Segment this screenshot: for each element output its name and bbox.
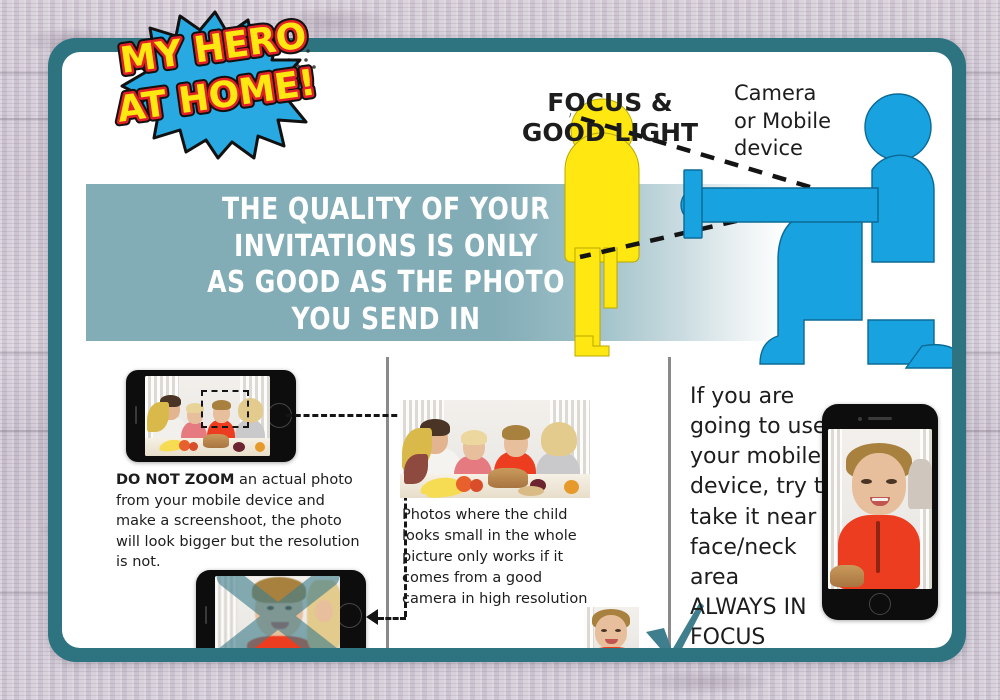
advice-line-2: going to use — [690, 412, 840, 442]
photographer-lower-leg — [868, 320, 934, 364]
whole-picture-caption: Photos where the child looks small in th… — [402, 505, 592, 610]
reject-x-icon — [215, 576, 340, 648]
phone-camera-icon — [858, 417, 862, 421]
camera-device-label: Camera or Mobile device — [734, 80, 884, 163]
mobile-advice-caption: If you are going to use your mobile devi… — [690, 382, 840, 648]
advice-line-8: ALWAYS IN — [690, 593, 840, 623]
do-not-zoom-emphasis: DO NOT ZOOM — [116, 472, 234, 488]
phone-speaker-icon — [135, 406, 137, 424]
headline-line-2: INVITATIONS IS ONLY — [116, 229, 655, 266]
phone-landscape-family — [126, 370, 296, 462]
family-photo-large — [400, 400, 590, 498]
phone-screen-family-photo — [145, 376, 270, 456]
photographer-torso — [872, 155, 934, 262]
advice-line-4: device, try to — [690, 472, 840, 502]
headline-line-3: AS GOOD AS THE PHOTO — [116, 265, 655, 302]
focus-label-line-2: GOOD LIGHT — [500, 118, 720, 148]
phone-screen-closeup-photo — [828, 429, 932, 589]
phone-home-button-icon — [869, 593, 891, 615]
phone-speaker-icon — [868, 417, 892, 420]
phone-portrait-closeup — [822, 404, 938, 620]
do-not-zoom-caption: DO NOT ZOOM an actual photo from your mo… — [116, 470, 364, 573]
my-hero-at-home-logo: MY HERO MY HERO MY HERO AT HOME! AT HOME… — [108, 10, 323, 160]
phone-screen-zoomed-photo — [215, 576, 340, 648]
panel-whole-picture: Photos where the child looks small in th… — [392, 362, 664, 648]
phone-landscape-zoomed — [196, 570, 366, 648]
panel-do-not-zoom: DO NOT ZOOM an actual photo from your mo… — [78, 362, 384, 648]
camera-label-line-3: device — [734, 135, 884, 163]
headline-line-1: THE QUALITY OF YOUR — [116, 192, 655, 229]
connector-arrowhead-icon — [366, 609, 378, 625]
advice-line-6: face/neck — [690, 533, 840, 563]
connector-line-horizontal — [286, 414, 406, 417]
advice-line-9: FOCUS — [690, 623, 840, 648]
headline-line-4: YOU SEND IN — [116, 302, 655, 339]
advice-line-3: your mobile — [690, 442, 840, 472]
crop-selection-box — [201, 390, 249, 428]
advice-line-1: If you are — [690, 382, 840, 412]
phone-speaker-icon — [205, 606, 207, 624]
advice-line-7: area — [690, 563, 840, 593]
camera-label-line-1: Camera — [734, 80, 884, 108]
panel-divider-left — [386, 357, 389, 648]
phone-home-button-icon — [337, 603, 362, 628]
headline-banner: THE QUALITY OF YOUR INVITATIONS IS ONLY … — [86, 184, 786, 341]
headline-text: THE QUALITY OF YOUR INVITATIONS IS ONLY … — [116, 192, 655, 338]
focus-label-line-1: FOCUS & — [500, 88, 720, 118]
focus-good-light-label: FOCUS & GOOD LIGHT — [500, 88, 720, 147]
camera-label-line-2: or Mobile — [734, 108, 884, 136]
infographic-poster: THE QUALITY OF YOUR INVITATIONS IS ONLY … — [0, 0, 1000, 700]
advice-line-5: take it near — [690, 503, 840, 533]
good-photo-thumbnail — [584, 607, 639, 648]
panel-mobile-advice: If you are going to use your mobile devi… — [674, 362, 952, 648]
